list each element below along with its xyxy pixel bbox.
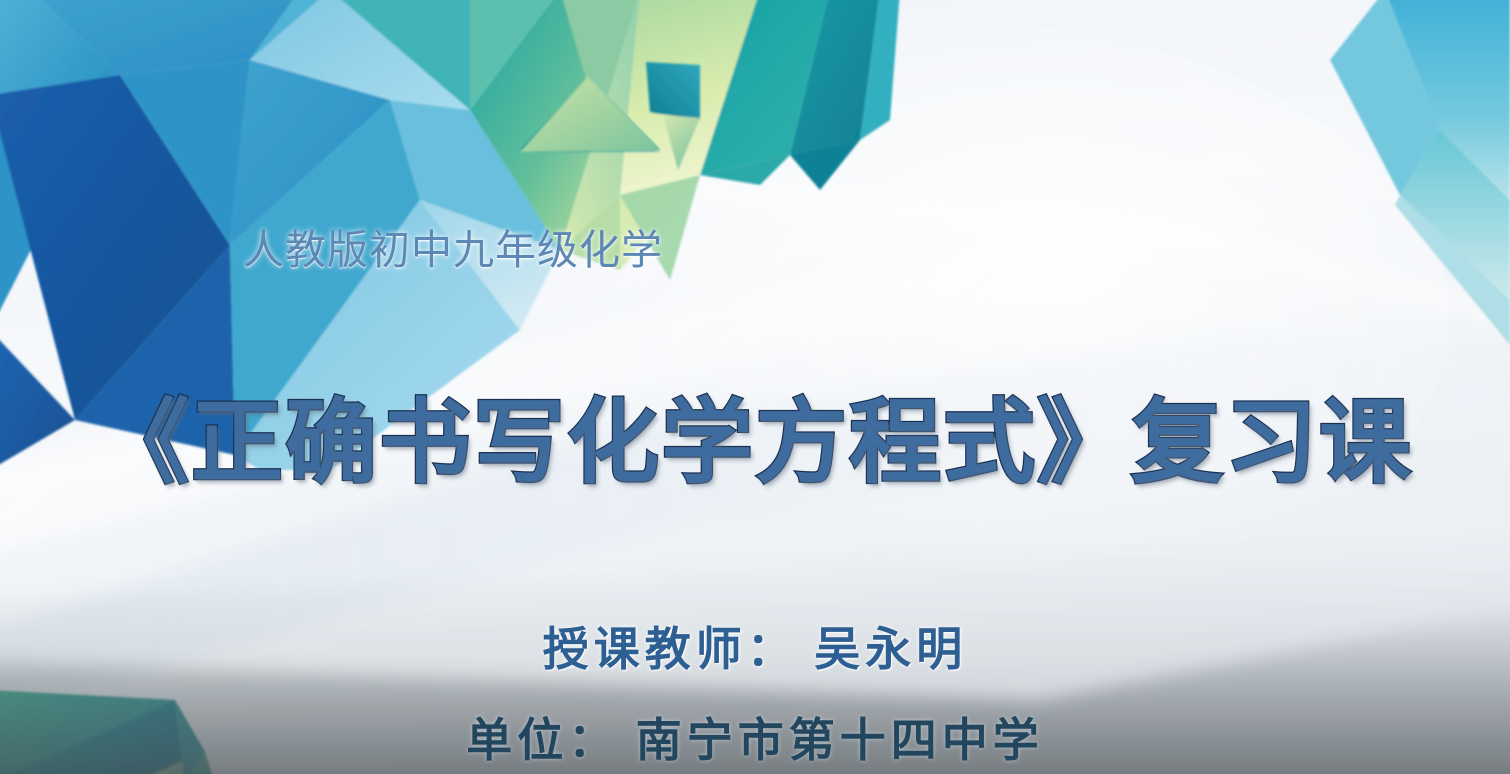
- slide-teacher-line: 授课教师： 吴永明: [0, 613, 1510, 679]
- slide-text-layer: 人教版初中九年级化学 《正确书写化学方程式》复习课 授课教师： 吴永明 单位： …: [0, 0, 1510, 774]
- slide-unit-line: 单位： 南宁市第十四中学: [0, 704, 1510, 770]
- slide-main-title: 《正确书写化学方程式》复习课: [0, 368, 1510, 501]
- slide-subtitle: 人教版初中九年级化学: [243, 216, 663, 276]
- presentation-slide: 人教版初中九年级化学 《正确书写化学方程式》复习课 授课教师： 吴永明 单位： …: [0, 0, 1510, 774]
